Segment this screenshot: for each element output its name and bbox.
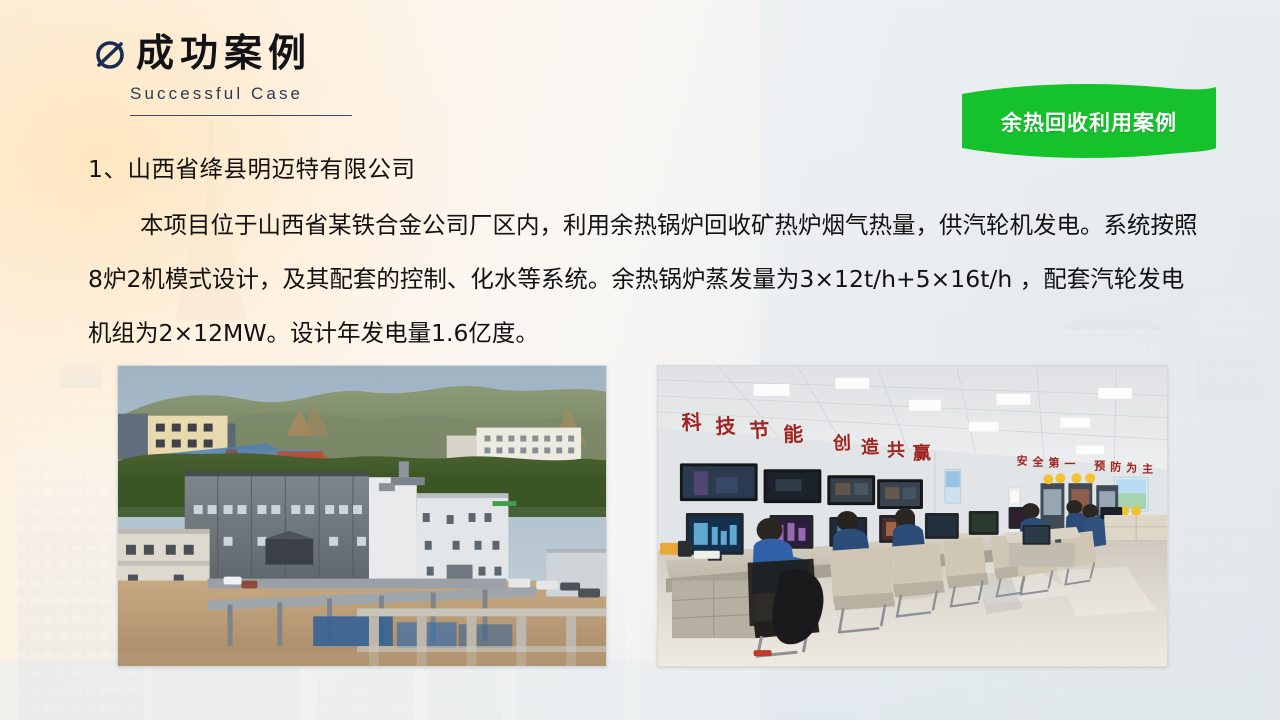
title-row: 成功案例 — [92, 34, 352, 74]
subtitle-wrap: Successful Case — [130, 84, 352, 116]
case-heading: 1、山西省绛县明迈特有限公司 — [88, 142, 1204, 196]
svg-text:技: 技 — [715, 415, 736, 439]
svg-text:共: 共 — [887, 440, 906, 462]
svg-text:节: 节 — [749, 419, 770, 443]
svg-text:造: 造 — [861, 436, 880, 459]
svg-text:赢: 赢 — [912, 442, 931, 465]
title-divider — [130, 115, 352, 116]
svg-text:安: 安 — [1017, 453, 1028, 467]
svg-text:第: 第 — [1048, 455, 1059, 469]
case-paragraph: 本项目位于山西省某铁合金公司厂区内，利用余热锅炉回收矿热炉烟气热量，供汽轮机发电… — [88, 198, 1204, 360]
svg-text:为: 为 — [1126, 460, 1137, 474]
page-title: 成功案例 — [136, 34, 312, 74]
page-subtitle: Successful Case — [130, 84, 352, 104]
content-block: 1、山西省绛县明迈特有限公司 本项目位于山西省某铁合金公司厂区内，利用余热锅炉回… — [88, 142, 1204, 360]
control-room-photo: 科 技 节 能 创 造 共 赢 安全 第一 预防 为主 — [657, 365, 1168, 667]
null-diameter-icon — [92, 36, 128, 72]
factory-plant-photo — [117, 365, 607, 667]
svg-text:能: 能 — [783, 423, 804, 447]
svg-text:防: 防 — [1110, 459, 1121, 473]
slide-canvas: 成功案例 Successful Case 余热回收利用案例 1、山西省绛县明迈特… — [0, 0, 1280, 720]
svg-text:主: 主 — [1142, 461, 1153, 475]
svg-text:预: 预 — [1094, 458, 1105, 472]
slide-header: 成功案例 Successful Case — [92, 34, 352, 116]
svg-text:科: 科 — [681, 411, 702, 435]
svg-text:一: 一 — [1064, 457, 1075, 470]
svg-text:全: 全 — [1032, 454, 1045, 468]
svg-text:创: 创 — [832, 432, 852, 455]
